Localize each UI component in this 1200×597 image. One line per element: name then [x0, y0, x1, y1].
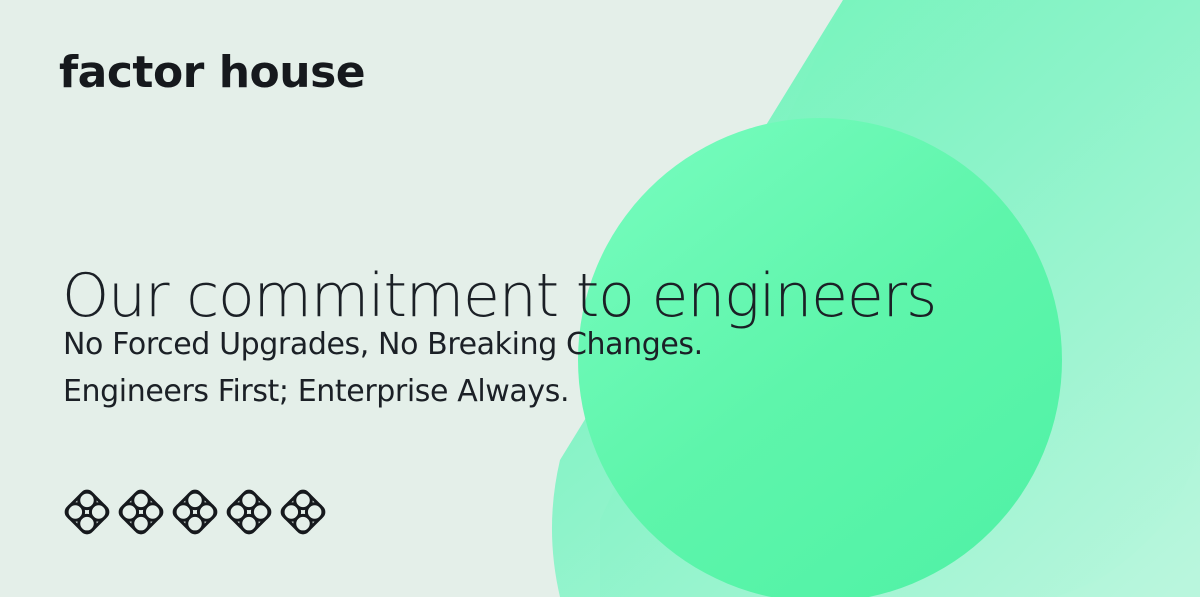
- subheading-line-1: No Forced Upgrades, No Breaking Changes.: [63, 322, 703, 369]
- diamond-lattice-icon: [62, 486, 112, 538]
- diamond-lattice-icon: [116, 486, 166, 538]
- diamond-lattice-icon: [170, 486, 220, 538]
- subheading-line-2: Engineers First; Enterprise Always.: [63, 369, 703, 416]
- logo-wordmark[interactable]: factor house: [59, 51, 365, 95]
- promo-banner: factor house Our commitment to engineers…: [0, 0, 1200, 597]
- page-title: Our commitment to engineers: [62, 263, 936, 330]
- diamond-lattice-icon: [224, 486, 274, 538]
- diamond-lattice-icon: [278, 486, 328, 538]
- subheading: No Forced Upgrades, No Breaking Changes.…: [63, 322, 703, 415]
- logomark-row: [62, 486, 328, 538]
